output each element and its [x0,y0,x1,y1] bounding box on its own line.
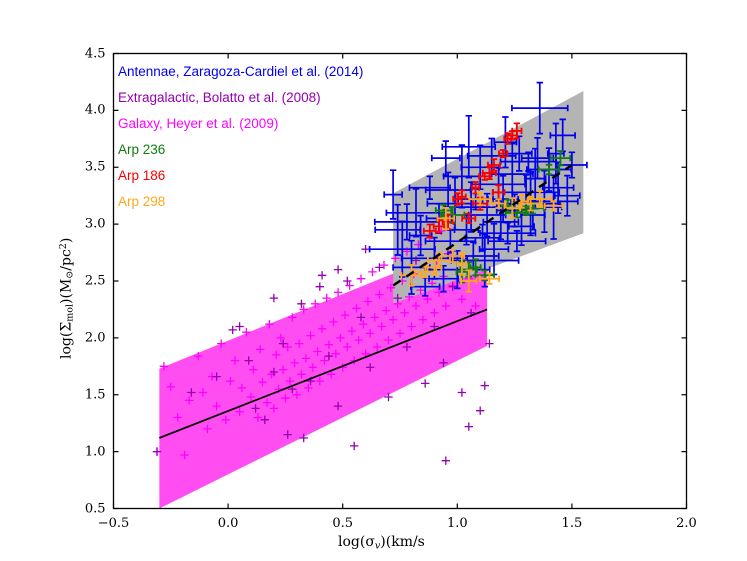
y-tick-label: 4.0 [85,103,106,118]
data-point-plus [481,381,489,389]
scatter-plot [0,0,747,561]
data-point-plus [476,407,484,415]
y-tick-label: 1.0 [85,444,106,459]
data-point-plus [465,422,473,430]
y-tick-label: 0.5 [85,501,106,516]
legend-item-4: Arp 236 [118,142,165,157]
x-tick-label: 1.0 [447,516,468,531]
y-tick-label: 4.5 [85,46,106,61]
data-point-plus [442,457,450,465]
x-axis-title: log(σv)(km/s [338,534,425,551]
x-tick-label: −0.5 [98,516,130,531]
y-tick-label: 1.5 [85,387,106,402]
x-tick-label: 2.0 [676,516,697,531]
x-tick-label: 0.5 [332,516,353,531]
data-point-plus [458,388,466,396]
data-point-plus [270,294,278,302]
legend-item-2: Extragalactic, Bolatto et al. (2008) [118,90,321,105]
data-point-plus [357,275,365,283]
figure-canvas: Antennae, Zaragoza-Cardiel et al. (2014)… [0,0,747,561]
data-point-plus [350,442,358,450]
y-tick-label: 3.5 [85,160,106,175]
y-axis-title: log(Σmol)(M⊙/pc2) [58,238,76,359]
legend-item-5: Arp 186 [118,168,165,183]
data-point-plus [334,265,342,273]
data-point-plus [361,245,369,253]
legend-item-3: Galaxy, Heyer et al. (2009) [118,116,278,131]
y-tick-label: 3.0 [85,217,106,232]
y-tick-label: 2.5 [85,274,106,289]
legend-item-1: Antennae, Zaragoza-Cardiel et al. (2014) [118,64,363,79]
data-point-plus [368,268,376,276]
data-point-plus [316,283,324,291]
data-point-plus [421,379,429,387]
x-tick-label: 1.5 [562,516,583,531]
legend-item-6: Arp 298 [118,194,165,209]
data-point-plus [318,271,326,279]
x-tick-label: 0.0 [218,516,239,531]
y-tick-label: 2.0 [85,330,106,345]
